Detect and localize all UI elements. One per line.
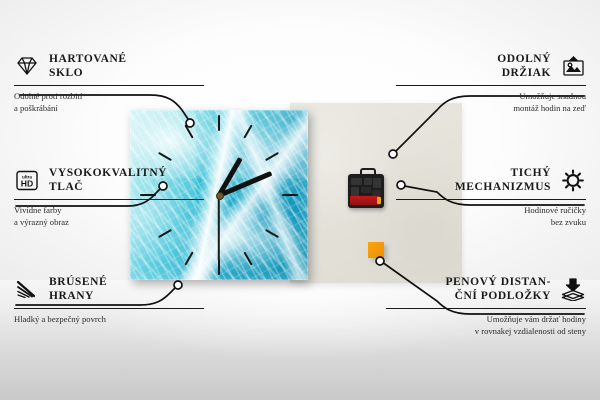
svg-text:HD: HD bbox=[21, 178, 33, 188]
clock-second-hand bbox=[218, 195, 220, 261]
feature-header: TICHÝ MECHANIZMUS bbox=[396, 166, 586, 194]
gear-icon bbox=[560, 169, 586, 191]
feature-vysokokvalitny-tlac: ultra HD VYSOKOKVALITNÝ TLAČ Vivídne far… bbox=[14, 166, 204, 228]
feature-desc-line: montáž hodin na zeď bbox=[396, 103, 586, 115]
mechanism-block bbox=[361, 187, 371, 193]
feature-hartovane-sklo: HARTOVANÉ SKLO Odolné proti rozbití a po… bbox=[14, 52, 204, 114]
battery-terminal bbox=[377, 197, 381, 204]
feature-title: PENOVÝ DISTAN- ČNÍ PODLOŽKY bbox=[445, 275, 551, 303]
feature-tichy-mechanizmus: TICHÝ MECHANIZMUS Hodinové ručičky bez z… bbox=[396, 166, 586, 228]
feature-penove-podlozky: PENOVÝ DISTAN- ČNÍ PODLOŽKY Umožňuje vám… bbox=[386, 275, 586, 337]
feature-desc-line: Umožňuje vám držať hodiny bbox=[386, 314, 586, 326]
feature-rule bbox=[14, 85, 204, 86]
feature-header: HARTOVANÉ SKLO bbox=[14, 52, 204, 80]
feature-rule bbox=[396, 199, 586, 200]
feature-desc-line: v rovnakej vzdialenosti od steny bbox=[386, 326, 586, 338]
feature-rule bbox=[386, 308, 586, 309]
feature-header: PENOVÝ DISTAN- ČNÍ PODLOŽKY bbox=[386, 275, 586, 303]
foam-pad-icon bbox=[560, 278, 586, 300]
mechanism-block bbox=[351, 178, 362, 185]
feature-title: BRÚSENÉ HRANY bbox=[49, 275, 107, 303]
feature-desc-line: Hodinové ručičky bbox=[396, 205, 586, 217]
feature-desc-line: Umožňuje snadnou bbox=[396, 91, 586, 103]
feature-desc-line: Vivídne farby bbox=[14, 205, 204, 217]
clock-tick bbox=[218, 259, 220, 275]
feature-desc-line: Odolné proti rozbití bbox=[14, 91, 204, 103]
feature-rule bbox=[14, 308, 204, 309]
feature-brusene-hrany: BRÚSENÉ HRANY Hladký a bezpečný povrch bbox=[14, 275, 204, 326]
feature-rule bbox=[14, 199, 204, 200]
feature-desc-line: Hladký a bezpečný povrch bbox=[14, 314, 204, 326]
feature-desc-line: a poškrábání bbox=[14, 103, 204, 115]
battery bbox=[350, 196, 380, 205]
feature-odolny-drziak: ODOLNÝ DRŽIAK Umožňuje snadnou montáž ho… bbox=[396, 52, 586, 114]
feature-desc-line: a výrazný obraz bbox=[14, 217, 204, 229]
feature-title: TICHÝ MECHANIZMUS bbox=[455, 166, 551, 194]
feature-header: BRÚSENÉ HRANY bbox=[14, 275, 204, 303]
feature-title: VYSOKOKVALITNÝ TLAČ bbox=[49, 166, 167, 194]
feature-rule bbox=[396, 85, 586, 86]
feature-header: ultra HD VYSOKOKVALITNÝ TLAČ bbox=[14, 166, 204, 194]
clock-tick bbox=[218, 115, 220, 131]
ultra-hd-icon: ultra HD bbox=[14, 169, 40, 191]
clock-hands-hub bbox=[216, 192, 224, 200]
feature-header: ODOLNÝ DRŽIAK bbox=[396, 52, 586, 80]
feature-title: HARTOVANÉ SKLO bbox=[49, 52, 127, 80]
picture-hanger-icon bbox=[560, 55, 586, 77]
feature-title: ODOLNÝ DRŽIAK bbox=[497, 52, 551, 80]
beveled-edges-icon bbox=[14, 278, 40, 300]
mechanism-block bbox=[364, 178, 372, 185]
mechanism-hanger bbox=[360, 168, 376, 178]
clock-mechanism bbox=[348, 174, 384, 208]
mechanism-block bbox=[373, 178, 381, 188]
mechanism-block bbox=[351, 187, 359, 196]
foam-spacer-pad bbox=[368, 242, 384, 258]
feature-desc-line: bez zvuku bbox=[396, 217, 586, 229]
diamond-icon bbox=[14, 55, 40, 77]
infographic-canvas: HARTOVANÉ SKLO Odolné proti rozbití a po… bbox=[0, 0, 600, 400]
clock-tick bbox=[282, 194, 298, 196]
